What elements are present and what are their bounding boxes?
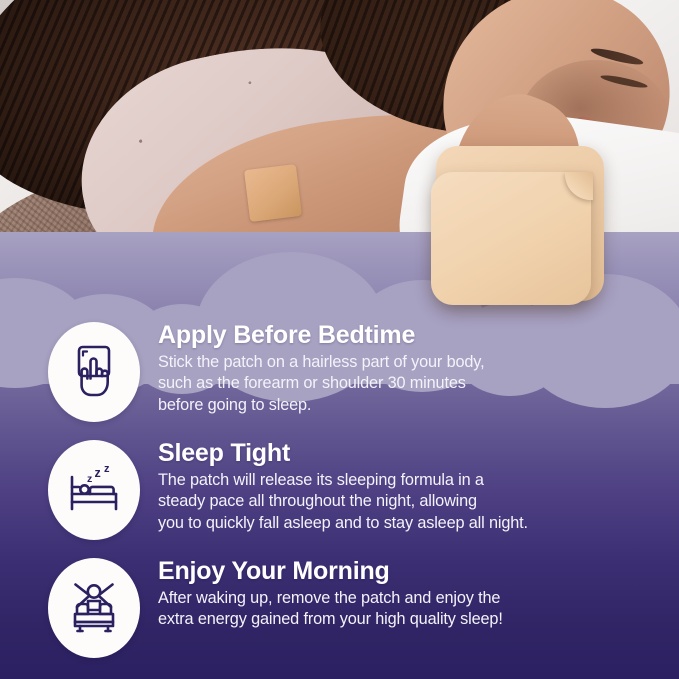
step-1-body: Stick the patch on a hairless part of yo… [158, 352, 663, 417]
svg-text:z: z [87, 473, 92, 485]
step-2-texts: Sleep Tight The patch will release its s… [158, 440, 679, 535]
step-row-sleep-tight: z z z Sleep Tight The patch will release… [0, 440, 679, 540]
step-1-icon-wrap [48, 322, 140, 422]
step-row-enjoy-your-morning: Enjoy Your Morning After waking up, remo… [0, 558, 679, 658]
step-3-texts: Enjoy Your Morning After waking up, remo… [158, 558, 679, 631]
step-row-apply-before-bedtime: Apply Before Bedtime Stick the patch on … [0, 322, 679, 422]
step-2-icon-wrap: z z z [48, 440, 140, 540]
step-1-heading: Apply Before Bedtime [158, 322, 663, 349]
svg-text:z: z [104, 463, 110, 475]
steps-list: Apply Before Bedtime Stick the patch on … [0, 300, 679, 679]
step-2-heading: Sleep Tight [158, 440, 663, 467]
person-sleeping-in-bed-icon: z z z [48, 440, 140, 540]
step-2-body: The patch will release its sleeping form… [158, 470, 663, 535]
step-3-body: After waking up, remove the patch and en… [158, 588, 663, 631]
hand-pressing-patch-icon [48, 322, 140, 422]
step-3-icon-wrap [48, 558, 140, 658]
step-1-texts: Apply Before Bedtime Stick the patch on … [158, 322, 679, 417]
step-3-heading: Enjoy Your Morning [158, 558, 663, 585]
product-patches [0, 0, 679, 340]
svg-text:z: z [95, 466, 101, 480]
person-stretching-awake-in-bed-icon [48, 558, 140, 658]
sleep-patch-front [431, 172, 591, 305]
infographic-page: Apply Before Bedtime Stick the patch on … [0, 0, 679, 679]
